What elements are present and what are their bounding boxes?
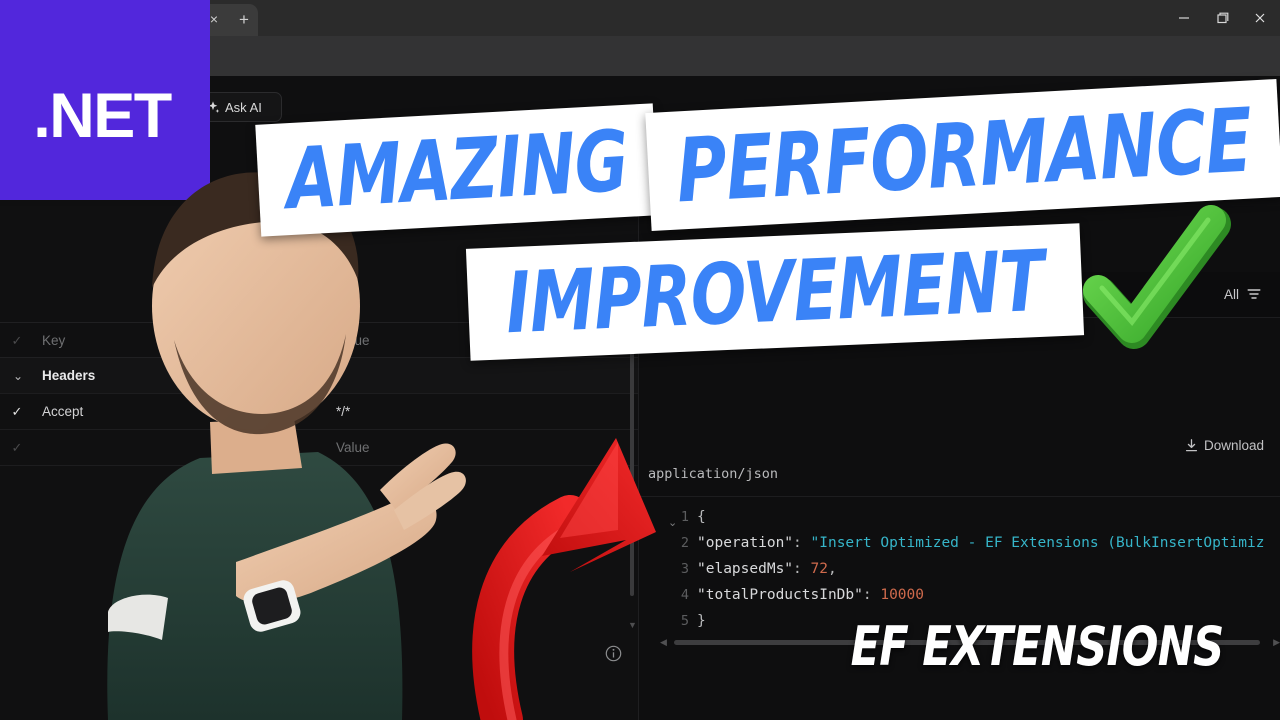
chevron-down-icon[interactable]: ⌄ <box>10 367 26 385</box>
footer-callout: EF EXTENSIONS <box>846 612 1270 680</box>
window-maximize-icon[interactable] <box>1206 8 1238 28</box>
new-tab-icon[interactable]: + <box>234 10 254 30</box>
screenshot-stage: × + /scalar/#tag/ef-extensions/POST/api/… <box>0 0 1280 720</box>
headline-word-label: IMPROVEMENT <box>504 232 1045 352</box>
red-curved-arrow-icon <box>420 420 720 720</box>
row-checkbox[interactable]: ✓ <box>8 403 26 421</box>
download-label: Download <box>1204 438 1264 453</box>
code-token-punc: : <box>793 561 810 577</box>
green-checkmark-icon <box>1082 200 1232 360</box>
filter-icon[interactable] <box>1246 286 1262 302</box>
download-button[interactable]: Download <box>1184 438 1264 453</box>
code-token-num: 10000 <box>880 587 924 603</box>
code-token-num: 72 <box>811 561 828 577</box>
headline-word-amazing: AMAZING <box>255 103 658 236</box>
code-token-punc: : <box>793 535 810 551</box>
footer-callout-label: EF EXTENSIONS <box>851 615 1224 678</box>
code-token-key: "totalProductsInDb" <box>697 587 863 603</box>
download-icon <box>1184 438 1199 453</box>
code-line: "operation": "Insert Optimized - EF Exte… <box>697 530 1264 556</box>
code-line: "totalProductsInDb": 10000 <box>697 582 924 608</box>
window-close-icon[interactable] <box>1244 8 1276 28</box>
scroll-right-arrow-icon[interactable]: ▶ <box>1273 637 1280 648</box>
divider <box>639 496 1280 497</box>
code-token-str: "Insert Optimized - EF Extensions (BulkI… <box>811 535 1265 551</box>
row-checkbox[interactable]: ✓ <box>8 439 26 457</box>
headline-word-label: AMAZING <box>284 112 630 228</box>
code-token-punc: , <box>828 561 837 577</box>
window-minimize-icon[interactable] <box>1168 8 1200 28</box>
select-all-checkbox[interactable]: ✓ <box>8 332 26 350</box>
code-token-punc: : <box>863 587 880 603</box>
